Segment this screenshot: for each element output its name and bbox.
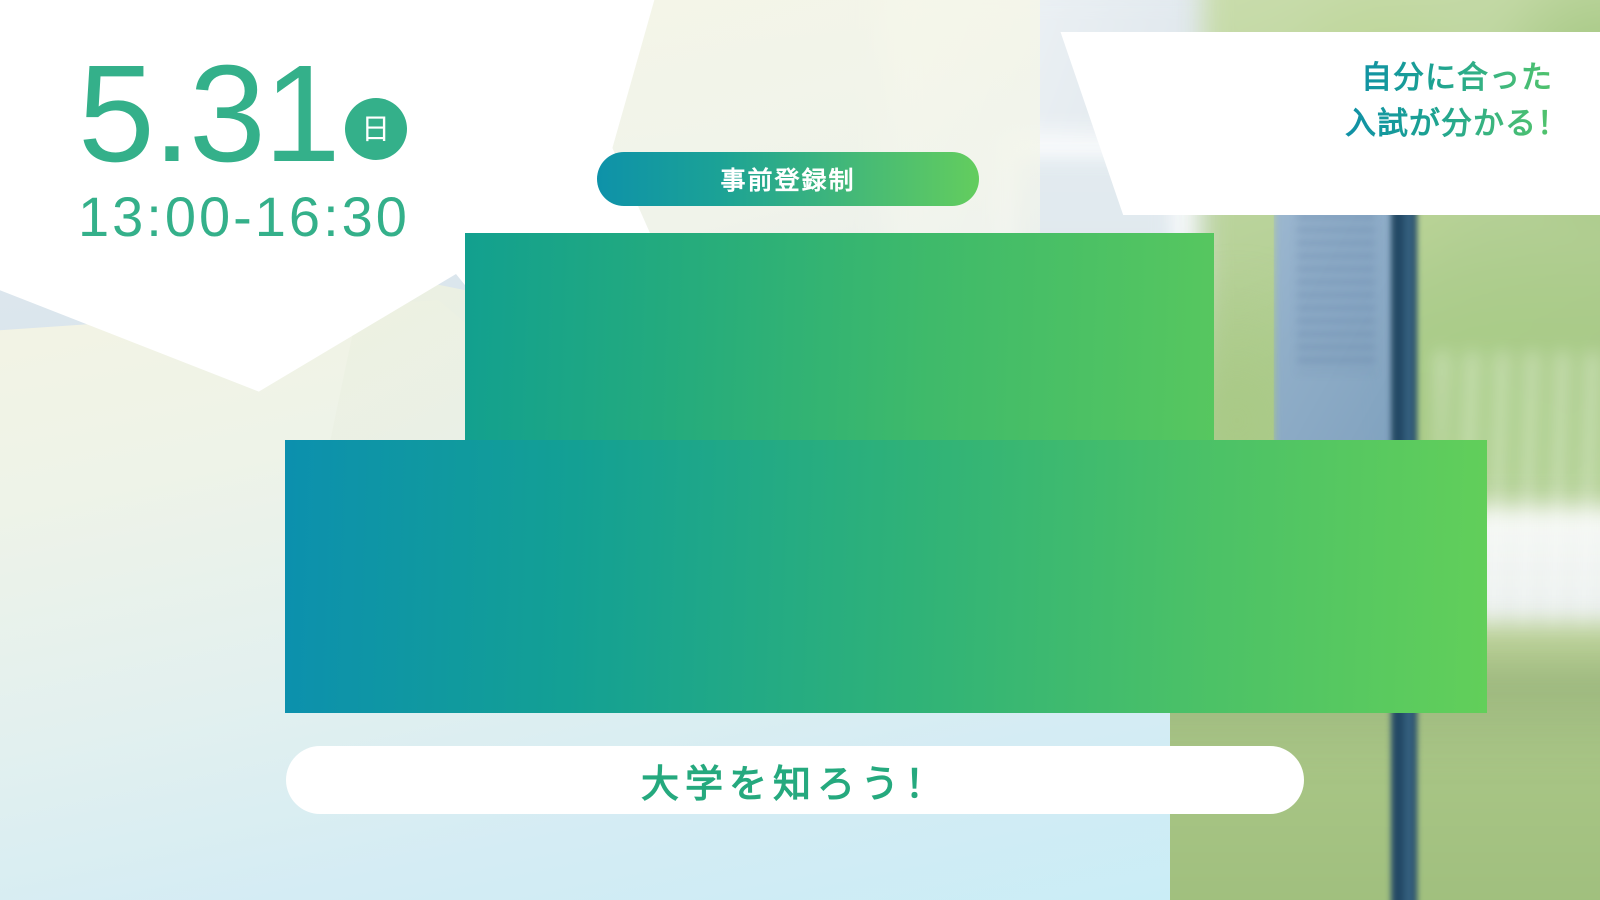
event-date: 5.31 xyxy=(78,48,339,180)
bottom-pill: 大学を知ろう！ xyxy=(286,746,1304,814)
bottom-pill-label: 大学を知ろう！ xyxy=(641,753,949,808)
catch-copy-panel: 自分に合った 入試が分かる！ xyxy=(1035,32,1600,215)
photo-lamp-banner-text xyxy=(1297,215,1374,372)
photo-tree-trunks xyxy=(1438,352,1600,646)
date-row: 5.31 日 xyxy=(78,48,518,180)
open-campus-banner: 5.31 日 13:00-16:30 事前登録制 自分に合った 入試が分かる！ … xyxy=(0,0,1600,900)
event-time-range: 13:00-16:30 xyxy=(78,184,518,249)
photo-lamp-post xyxy=(1391,127,1416,900)
catch-copy-text: 自分に合った 入試が分かる！ xyxy=(1345,56,1569,148)
registration-badge: 事前登録制 xyxy=(597,152,979,206)
day-circle-icon: 日 xyxy=(345,98,407,160)
event-date-block: 5.31 日 13:00-16:30 xyxy=(78,48,518,249)
